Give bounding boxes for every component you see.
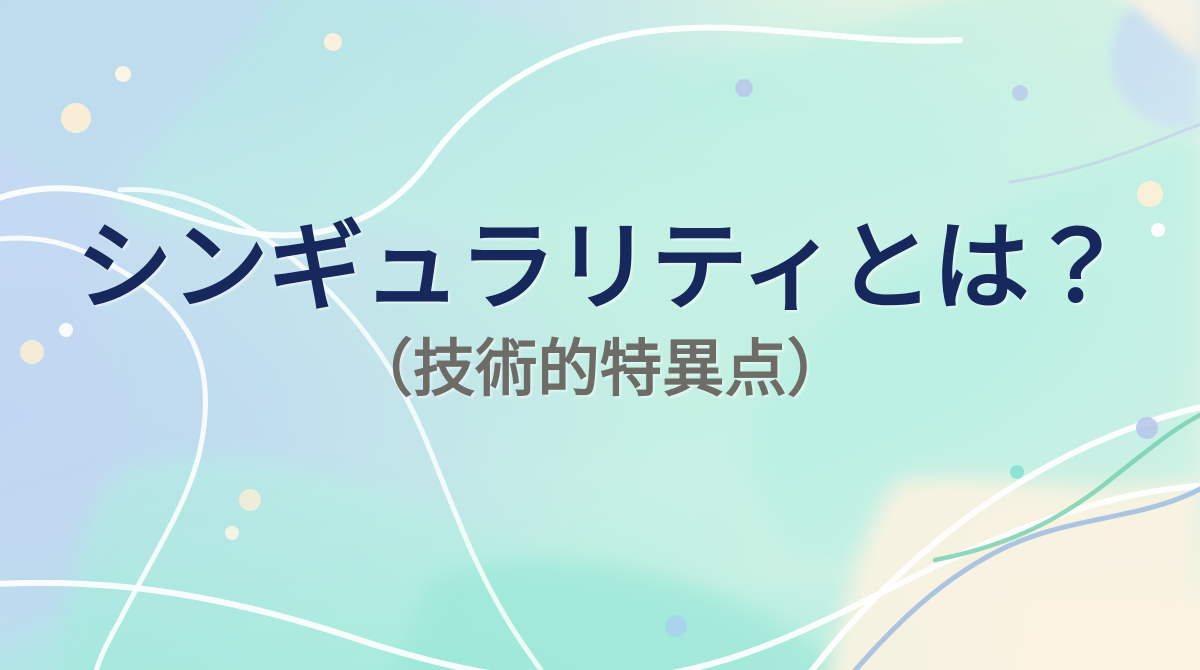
dot-teal-1 — [1010, 465, 1024, 479]
curve-white-bottomright — [790, 405, 1200, 670]
curve-white-bottom — [0, 485, 1200, 670]
blob-aqua-bottom — [60, 458, 1010, 670]
blob-periwinkle-corner — [1111, 0, 1200, 131]
dot-periwinkle-2 — [1012, 85, 1028, 101]
dot-cream-1 — [61, 103, 91, 133]
dot-cream-3 — [324, 33, 342, 51]
dot-cream-5 — [1137, 181, 1163, 207]
curve-green-bottomright — [935, 408, 1200, 560]
page-subtitle: （技術的特異点） — [0, 335, 1200, 404]
dot-cream-7 — [239, 489, 261, 511]
dot-cream-6 — [225, 526, 239, 540]
dot-cream-2 — [115, 66, 131, 82]
page-title: シンギュラリティとは？ — [0, 216, 1200, 321]
curve-white-top — [0, 28, 960, 236]
blob-aqua-lobe — [380, 560, 860, 670]
dot-blue-1 — [665, 615, 687, 637]
curve-blue-topright — [1010, 120, 1200, 182]
slide-canvas: シンギュラリティとは？ （技術的特異点） — [0, 0, 1200, 670]
dot-periwinkle-1 — [735, 79, 753, 97]
headline-group: シンギュラリティとは？ （技術的特異点） — [0, 216, 1200, 404]
curve-blue-bottomright — [830, 472, 1200, 670]
blob-cream-topright — [1060, 0, 1200, 60]
dot-periwinkle-3 — [1136, 417, 1158, 439]
blob-cream-bottomright — [820, 478, 1200, 670]
